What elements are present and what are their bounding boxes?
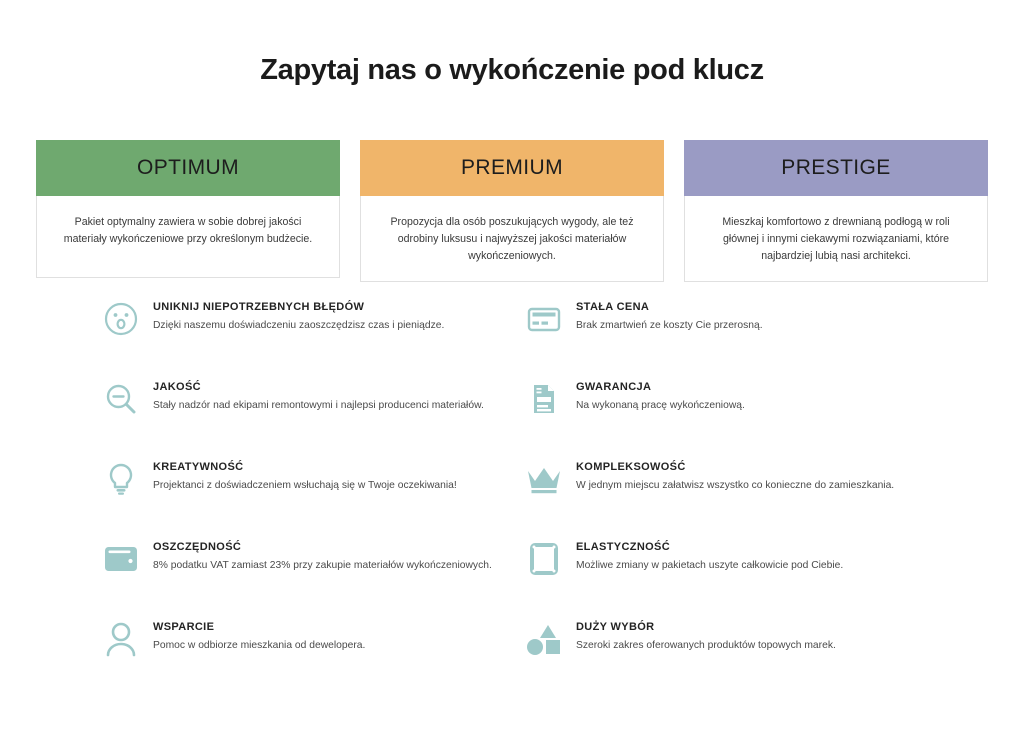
feature-description: Dzięki naszemu doświadczeniu zaoszczędzi… xyxy=(153,319,444,333)
feature-description: Projektanci z doświadczeniem wsłuchają s… xyxy=(153,479,457,493)
feature-title: WSPARCIE xyxy=(153,621,365,633)
feature-description: Możliwe zmiany w pakietach uszyte całkow… xyxy=(576,559,843,573)
feature-item[interactable]: OSZCZĘDNOŚĆ 8% podatku VAT zamiast 23% p… xyxy=(89,536,512,616)
feature-text: WSPARCIE Pomoc w odbiorze mieszkania od … xyxy=(153,616,365,653)
feature-text: KREATYWNOŚĆ Projektanci z doświadczeniem… xyxy=(153,456,457,493)
credit-card-icon xyxy=(512,296,576,340)
feature-description: 8% podatku VAT zamiast 23% przy zakupie … xyxy=(153,559,492,573)
package-card-prestige[interactable]: PRESTIGE Mieszkaj komfortowo z drewnianą… xyxy=(684,140,988,282)
person-icon xyxy=(89,616,153,660)
feature-title: STAŁA CENA xyxy=(576,301,763,313)
package-card-description: Pakiet optymalny zawiera w sobie dobrej … xyxy=(36,196,340,278)
feature-text: UNIKNIJ NIEPOTRZEBNYCH BŁĘDÓW Dzięki nas… xyxy=(153,296,444,333)
package-card-premium[interactable]: PREMIUM Propozycja dla osób poszukującyc… xyxy=(360,140,664,282)
package-card-description: Propozycja dla osób poszukujących wygody… xyxy=(360,196,664,282)
feature-item[interactable]: UNIKNIJ NIEPOTRZEBNYCH BŁĘDÓW Dzięki nas… xyxy=(89,296,512,376)
feature-title: DUŻY WYBÓR xyxy=(576,621,836,633)
feature-text: DUŻY WYBÓR Szeroki zakres oferowanych pr… xyxy=(576,616,836,653)
feature-description: Stały nadzór nad ekipami remontowymi i n… xyxy=(153,399,484,413)
package-card-optimum[interactable]: OPTIMUM Pakiet optymalny zawiera w sobie… xyxy=(36,140,340,282)
surprised-face-icon xyxy=(89,296,153,340)
package-card-description: Mieszkaj komfortowo z drewnianą podłogą … xyxy=(684,196,988,282)
package-card-header: OPTIMUM xyxy=(36,140,340,196)
feature-item[interactable]: KOMPLEKSOWOŚĆ W jednym miejscu załatwisz… xyxy=(512,456,935,536)
package-card-header: PREMIUM xyxy=(360,140,664,196)
feature-description: Szeroki zakres oferowanych produktów top… xyxy=(576,639,836,653)
package-card-header: PRESTIGE xyxy=(684,140,988,196)
feature-item[interactable]: WSPARCIE Pomoc w odbiorze mieszkania od … xyxy=(89,616,512,696)
lightbulb-icon xyxy=(89,456,153,500)
feature-item[interactable]: STAŁA CENA Brak zmartwień ze koszty Cie … xyxy=(512,296,935,376)
feature-title: KREATYWNOŚĆ xyxy=(153,461,457,473)
feature-title: ELASTYCZNOŚĆ xyxy=(576,541,843,553)
feature-description: Na wykonaną pracę wykończeniową. xyxy=(576,399,745,413)
feature-item[interactable]: JAKOŚĆ Stały nadzór nad ekipami remontow… xyxy=(89,376,512,456)
feature-text: KOMPLEKSOWOŚĆ W jednym miejscu załatwisz… xyxy=(576,456,894,493)
feature-text: ELASTYCZNOŚĆ Możliwe zmiany w pakietach … xyxy=(576,536,843,573)
document-icon xyxy=(512,376,576,420)
feature-title: GWARANCJA xyxy=(576,381,745,393)
feature-text: GWARANCJA Na wykonaną pracę wykończeniow… xyxy=(576,376,745,413)
feature-item[interactable]: GWARANCJA Na wykonaną pracę wykończeniow… xyxy=(512,376,935,456)
feature-title: KOMPLEKSOWOŚĆ xyxy=(576,461,894,473)
feature-title: OSZCZĘDNOŚĆ xyxy=(153,541,492,553)
crown-icon xyxy=(512,456,576,500)
feature-item[interactable]: ELASTYCZNOŚĆ Możliwe zmiany w pakietach … xyxy=(512,536,935,616)
feature-description: Pomoc w odbiorze mieszkania od deweloper… xyxy=(153,639,365,653)
package-cards: OPTIMUM Pakiet optymalny zawiera w sobie… xyxy=(36,140,988,282)
feature-item[interactable]: KREATYWNOŚĆ Projektanci z doświadczeniem… xyxy=(89,456,512,536)
feature-title: JAKOŚĆ xyxy=(153,381,484,393)
feature-text: OSZCZĘDNOŚĆ 8% podatku VAT zamiast 23% p… xyxy=(153,536,492,573)
feature-description: W jednym miejscu załatwisz wszystko co k… xyxy=(576,479,894,493)
page-root: Zapytaj nas o wykończenie pod klucz OPTI… xyxy=(0,0,1024,735)
feature-title: UNIKNIJ NIEPOTRZEBNYCH BŁĘDÓW xyxy=(153,301,444,313)
magnifier-minus-icon xyxy=(89,376,153,420)
shapes-icon xyxy=(512,616,576,660)
feature-grid: UNIKNIJ NIEPOTRZEBNYCH BŁĘDÓW Dzięki nas… xyxy=(0,296,1024,696)
feature-text: JAKOŚĆ Stały nadzór nad ekipami remontow… xyxy=(153,376,484,413)
wallet-icon xyxy=(89,536,153,580)
feature-text: STAŁA CENA Brak zmartwień ze koszty Cie … xyxy=(576,296,763,333)
feature-item[interactable]: DUŻY WYBÓR Szeroki zakres oferowanych pr… xyxy=(512,616,935,696)
feature-description: Brak zmartwień ze koszty Cie przerosną. xyxy=(576,319,763,333)
page-title: Zapytaj nas o wykończenie pod klucz xyxy=(0,54,1024,87)
transform-box-icon xyxy=(512,536,576,580)
